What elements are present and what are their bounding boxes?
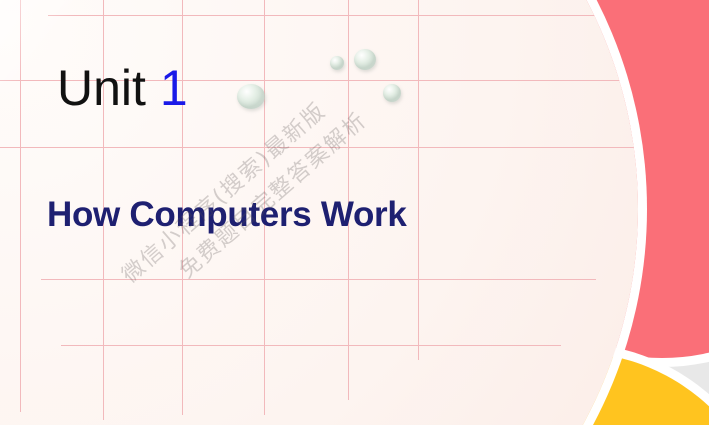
unit-label: Unit (57, 60, 146, 116)
grid-line-vertical (418, 0, 419, 360)
page-title: How Computers Work (47, 197, 407, 232)
unit-number: 1 (160, 60, 188, 116)
unit-heading: Unit 1 (57, 63, 188, 113)
grid-line-horizontal (61, 345, 561, 346)
water-droplet (354, 49, 376, 70)
water-droplet (330, 56, 344, 70)
water-droplet (383, 84, 401, 102)
grid-line-horizontal (48, 15, 638, 16)
grid-line-vertical (20, 0, 21, 412)
grid-line-horizontal (0, 147, 638, 148)
grid-line-horizontal (41, 279, 596, 280)
diagonal-light-streak (0, 0, 249, 282)
water-droplet (237, 84, 265, 109)
slide-canvas: Unit 1 How Computers Work 微信小程序(搜索)最新版 免… (0, 0, 709, 425)
